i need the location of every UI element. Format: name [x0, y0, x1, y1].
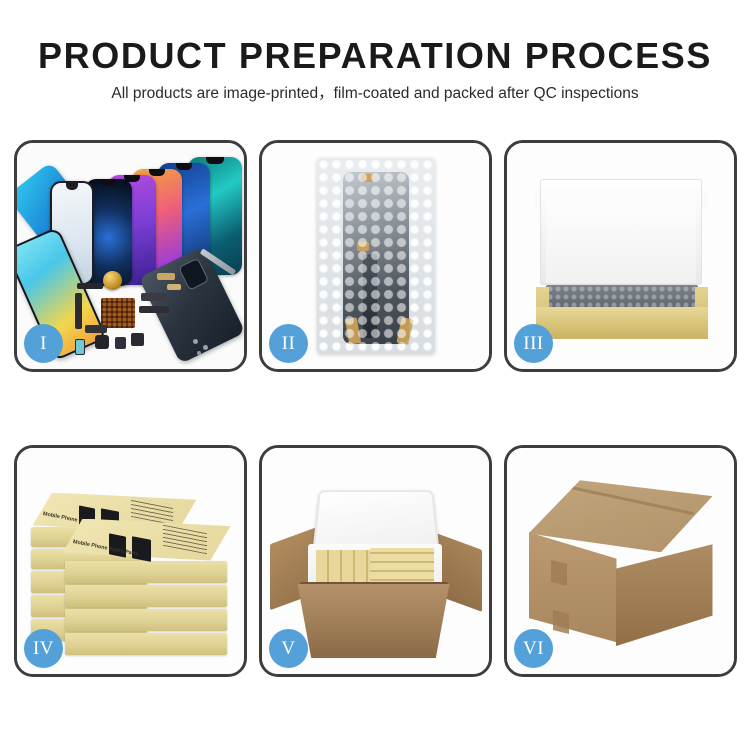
- flex-cable-a-icon: [75, 293, 82, 329]
- camera-module-icon: [178, 258, 209, 291]
- step-badge-2: II: [269, 324, 308, 363]
- foam-sheet-icon: [546, 201, 696, 283]
- product-preparation-infographic: PRODUCT PREPARATION PROCESS All products…: [0, 0, 750, 750]
- carton-body-icon: [298, 584, 450, 658]
- stacked-box-r2: [65, 585, 227, 607]
- stacked-box-r3: [65, 609, 227, 631]
- protective-tab-top-icon: [361, 174, 373, 182]
- step-panel-2[interactable]: II: [259, 140, 492, 372]
- box-front-panel-icon: [536, 307, 708, 339]
- sealed-carton-icon: [523, 480, 719, 646]
- carton-left-face-icon: [529, 532, 617, 642]
- step-badge-3: III: [514, 324, 553, 363]
- step-badge-6: VI: [514, 629, 553, 668]
- top-box-b-window-2: [132, 536, 151, 562]
- step-panel-4[interactable]: Mobile Phone Spare Parts Mobile Phone Sp…: [14, 445, 247, 677]
- small-component-a-icon: [95, 335, 109, 349]
- page-title: PRODUCT PREPARATION PROCESS: [0, 34, 750, 78]
- step-panel-6[interactable]: VI: [504, 445, 737, 677]
- gold-connector-b-icon: [167, 284, 181, 290]
- step-badge-4: IV: [24, 629, 63, 668]
- open-carton-icon: [274, 478, 478, 662]
- protective-tab-mid-icon: [357, 242, 369, 251]
- stacked-box-r4: [65, 633, 227, 655]
- carton-tape-lower-icon: [553, 610, 569, 634]
- small-component-b-icon: [115, 337, 126, 349]
- flex-cable-b-icon: [85, 325, 107, 333]
- flex-cable-e-icon: [77, 283, 103, 289]
- step-badge-5: V: [269, 629, 308, 668]
- bubble-wrap-package-icon: [317, 158, 435, 354]
- step-badge-1: I: [24, 324, 63, 363]
- step-panel-3[interactable]: III: [504, 140, 737, 372]
- carton-tape-upper-icon: [551, 560, 567, 586]
- open-kraft-box-icon: [526, 175, 716, 347]
- step-panel-1[interactable]: I: [14, 140, 247, 372]
- gold-connector-a-icon: [157, 273, 175, 280]
- screw-a-icon: [193, 339, 198, 344]
- speaker-coil-icon: [103, 271, 122, 290]
- small-component-c-icon: [131, 333, 144, 346]
- flex-cable-c-icon: [141, 293, 167, 301]
- foam-box-lid-icon: [312, 490, 439, 548]
- copper-mesh-part-icon: [101, 298, 135, 328]
- page-subtitle: All products are image-printed，film-coat…: [0, 84, 750, 104]
- carton-right-face-icon: [616, 544, 713, 646]
- header: PRODUCT PREPARATION PROCESS All products…: [0, 34, 750, 104]
- stacked-box-r1: [65, 561, 227, 583]
- screw-b-icon: [203, 345, 208, 350]
- flex-cable-d-icon: [139, 306, 169, 313]
- stacked-boxes-icon: Mobile Phone Spare Parts Mobile Phone Sp…: [31, 475, 231, 657]
- process-steps-grid: I II: [14, 140, 736, 677]
- wrapped-flex-cable-icon: [363, 254, 377, 338]
- screw-c-icon: [197, 351, 201, 355]
- step-panel-5[interactable]: V: [259, 445, 492, 677]
- sim-tray-icon: [75, 339, 85, 355]
- carton-top-seam-icon: [560, 484, 694, 515]
